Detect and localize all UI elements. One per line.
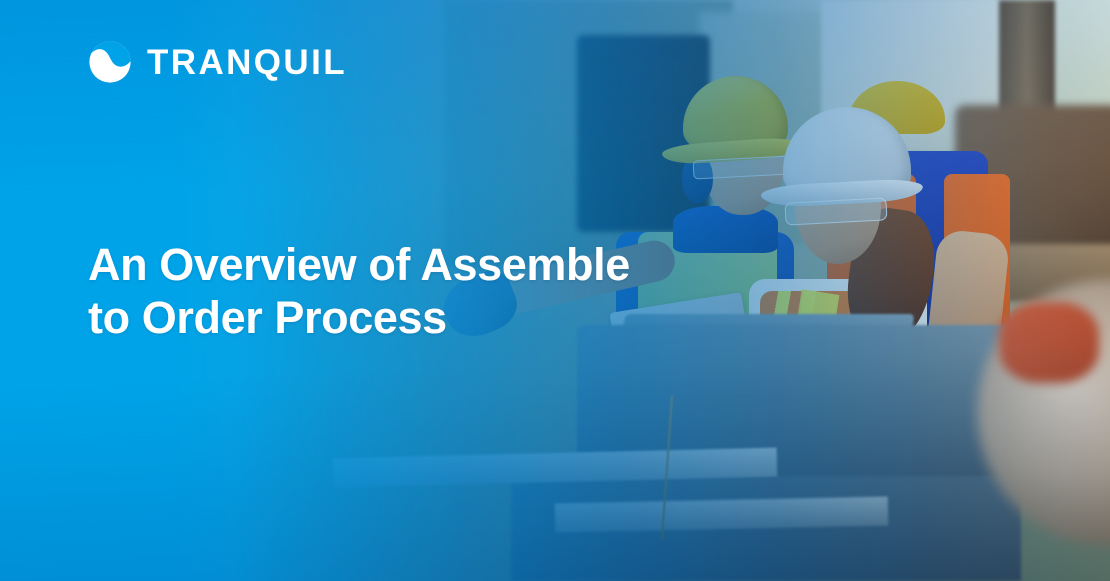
tranquil-wave-circle-icon bbox=[88, 40, 132, 84]
hero-banner: TRANQUIL An Overview of Assemble to Orde… bbox=[0, 0, 1110, 581]
brand-logo-lockup[interactable]: TRANQUIL bbox=[88, 40, 347, 84]
page-title: An Overview of Assemble to Order Process bbox=[88, 239, 708, 344]
page-title-line-1: An Overview of Assemble bbox=[88, 239, 708, 292]
banner-content: TRANQUIL An Overview of Assemble to Orde… bbox=[0, 0, 1110, 581]
page-title-line-2: to Order Process bbox=[88, 292, 708, 345]
brand-wordmark: TRANQUIL bbox=[147, 45, 347, 80]
